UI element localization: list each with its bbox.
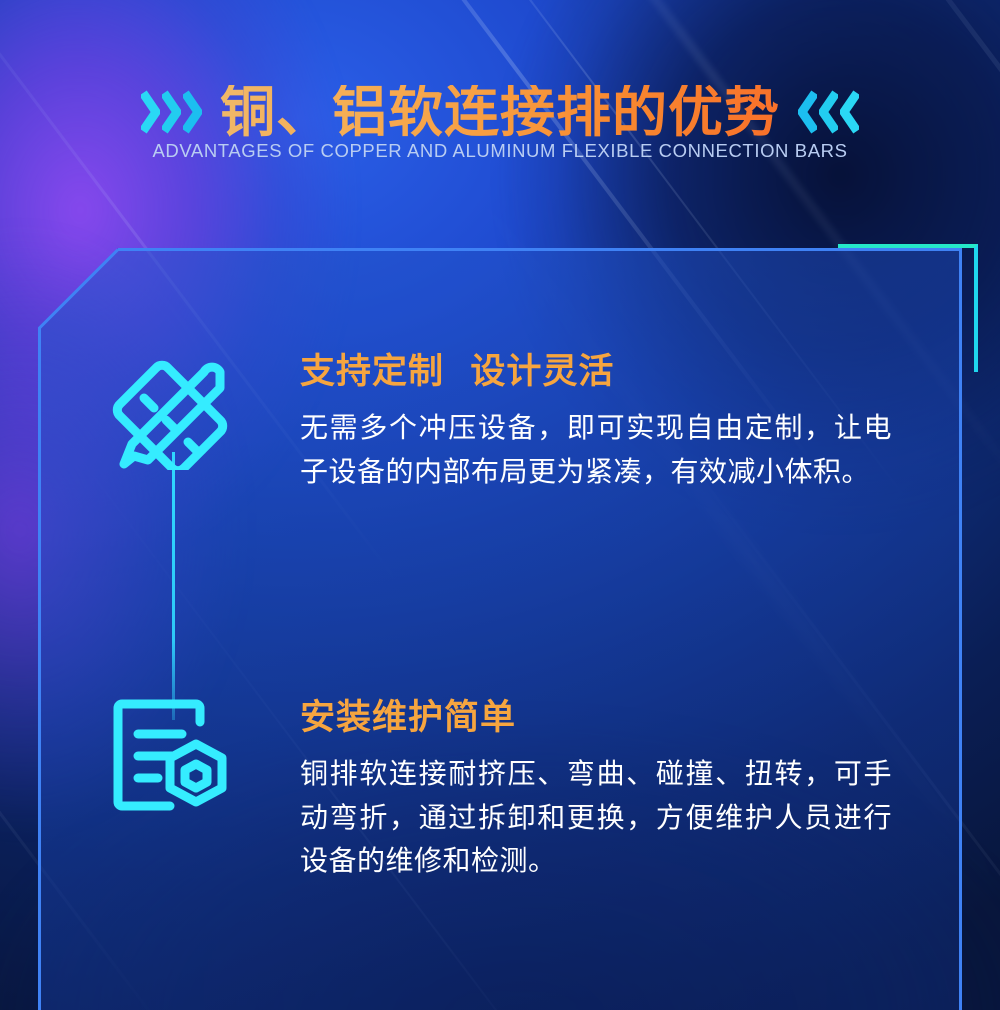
icon-connector-line [172,452,175,720]
chevron-left-triple-icon [798,90,859,134]
feature-body: 安装维护简单 铜排软连接耐挤压、弯曲、碰撞、扭转，可手动弯折，通过拆卸和更换，方… [300,698,900,882]
chevron-right-triple-icon [141,90,202,134]
document-settings-icon [108,698,236,816]
feature-body: 支持定制 设计灵活 无需多个冲压设备，即可实现自由定制，让电子设备的内部布局更为… [300,352,900,493]
feature-heading: 安装维护简单 [300,698,900,738]
chevron-left-icon [819,90,838,134]
chevron-left-icon [840,90,859,134]
header: 铜、铝软连接排的优势 ADVANTAGES OF COPPER AND ALUM… [0,0,1000,200]
page-subtitle: ADVANTAGES OF COPPER AND ALUMINUM FLEXIB… [0,140,1000,162]
feature-text: 无需多个冲压设备，即可实现自由定制，让电子设备的内部布局更为紧凑，有效减小体积。 [300,406,892,493]
pencil-ruler-icon [108,352,236,470]
chevron-right-icon [162,90,181,134]
chevron-right-icon [183,90,202,134]
poster-root: 铜、铝软连接排的优势 ADVANTAGES OF COPPER AND ALUM… [0,0,1000,1010]
chevron-left-icon [798,90,817,134]
feature-heading: 支持定制 设计灵活 [300,352,900,392]
page-title: 铜、铝软连接排的优势 [220,85,780,140]
chevron-right-icon [141,90,160,134]
feature-text: 铜排软连接耐挤压、弯曲、碰撞、扭转，可手动弯折，通过拆卸和更换，方便维护人员进行… [300,752,892,882]
